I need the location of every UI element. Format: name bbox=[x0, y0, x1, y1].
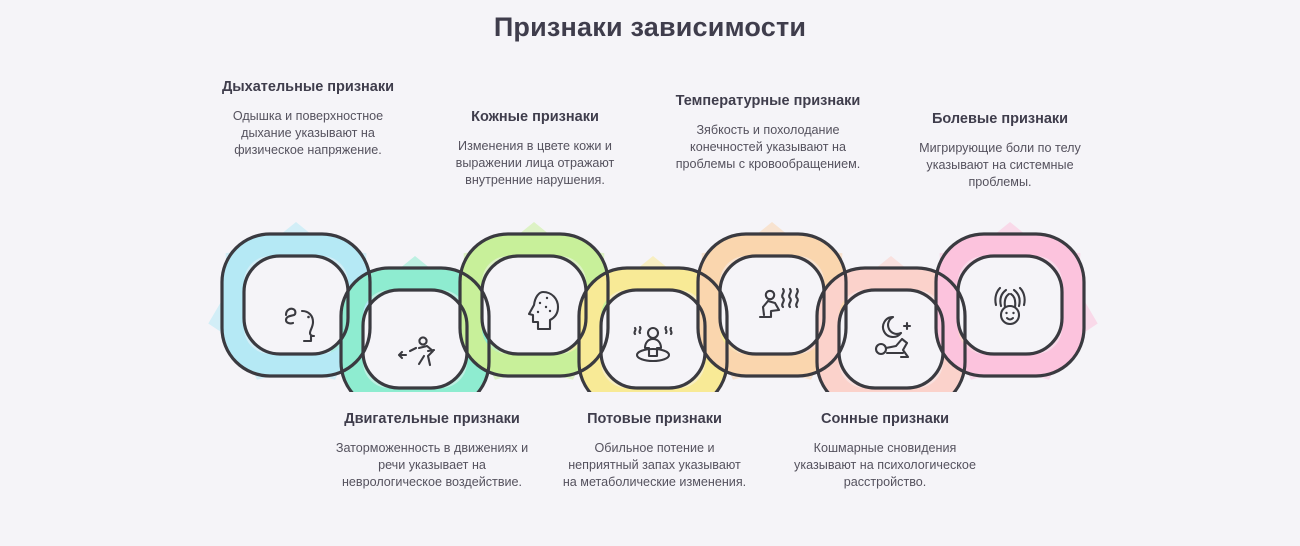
label-block-breathing: Дыхательные признаки Одышка и поверхност… bbox=[208, 78, 408, 159]
label-block-motor: Двигательные признаки Заторможенность в … bbox=[332, 410, 532, 491]
label-title-sweat: Потовые признаки bbox=[562, 410, 747, 429]
label-desc-sleep: Кошмарные сновидения указывают на психол… bbox=[785, 440, 985, 491]
label-block-sweat: Потовые признаки Обильное потение и непр… bbox=[562, 410, 747, 491]
inner-fill-link-breathing bbox=[244, 256, 348, 354]
label-desc-skin: Изменения в цвете кожи и выражении лица … bbox=[440, 138, 630, 189]
label-desc-pain: Мигрирующие боли по телу указывают на си… bbox=[905, 140, 1095, 191]
label-block-sleep: Сонные признаки Кошмарные сновидения ука… bbox=[785, 410, 985, 491]
label-desc-temperature: Зябкость и похолодание конечностей указы… bbox=[668, 122, 868, 173]
label-block-skin: Кожные признаки Изменения в цвете кожи и… bbox=[440, 108, 630, 189]
label-title-temperature: Температурные признаки bbox=[668, 92, 868, 111]
inner-fill-link-temperature bbox=[720, 256, 824, 354]
label-desc-breathing: Одышка и поверхностное дыхание указывают… bbox=[208, 108, 408, 159]
label-desc-sweat: Обильное потение и неприятный запах указ… bbox=[562, 440, 747, 491]
inner-fill-link-sleep bbox=[839, 290, 943, 388]
inner-fill-link-motor bbox=[363, 290, 467, 388]
label-title-skin: Кожные признаки bbox=[440, 108, 630, 127]
page-title: Признаки зависимости bbox=[0, 12, 1300, 43]
label-title-sleep: Сонные признаки bbox=[785, 410, 985, 429]
label-desc-motor: Заторможенность в движениях и речи указы… bbox=[332, 440, 532, 491]
chain-diagram bbox=[0, 212, 1300, 392]
label-block-temperature: Температурные признаки Зябкость и похоло… bbox=[668, 92, 868, 173]
infographic-canvas: Признаки зависимости Дыхательные признак… bbox=[0, 0, 1300, 546]
label-title-motor: Двигательные признаки bbox=[332, 410, 532, 429]
label-block-pain: Болевые признаки Мигрирующие боли по тел… bbox=[905, 110, 1095, 191]
label-title-breathing: Дыхательные признаки bbox=[208, 78, 408, 97]
label-title-pain: Болевые признаки bbox=[905, 110, 1095, 129]
